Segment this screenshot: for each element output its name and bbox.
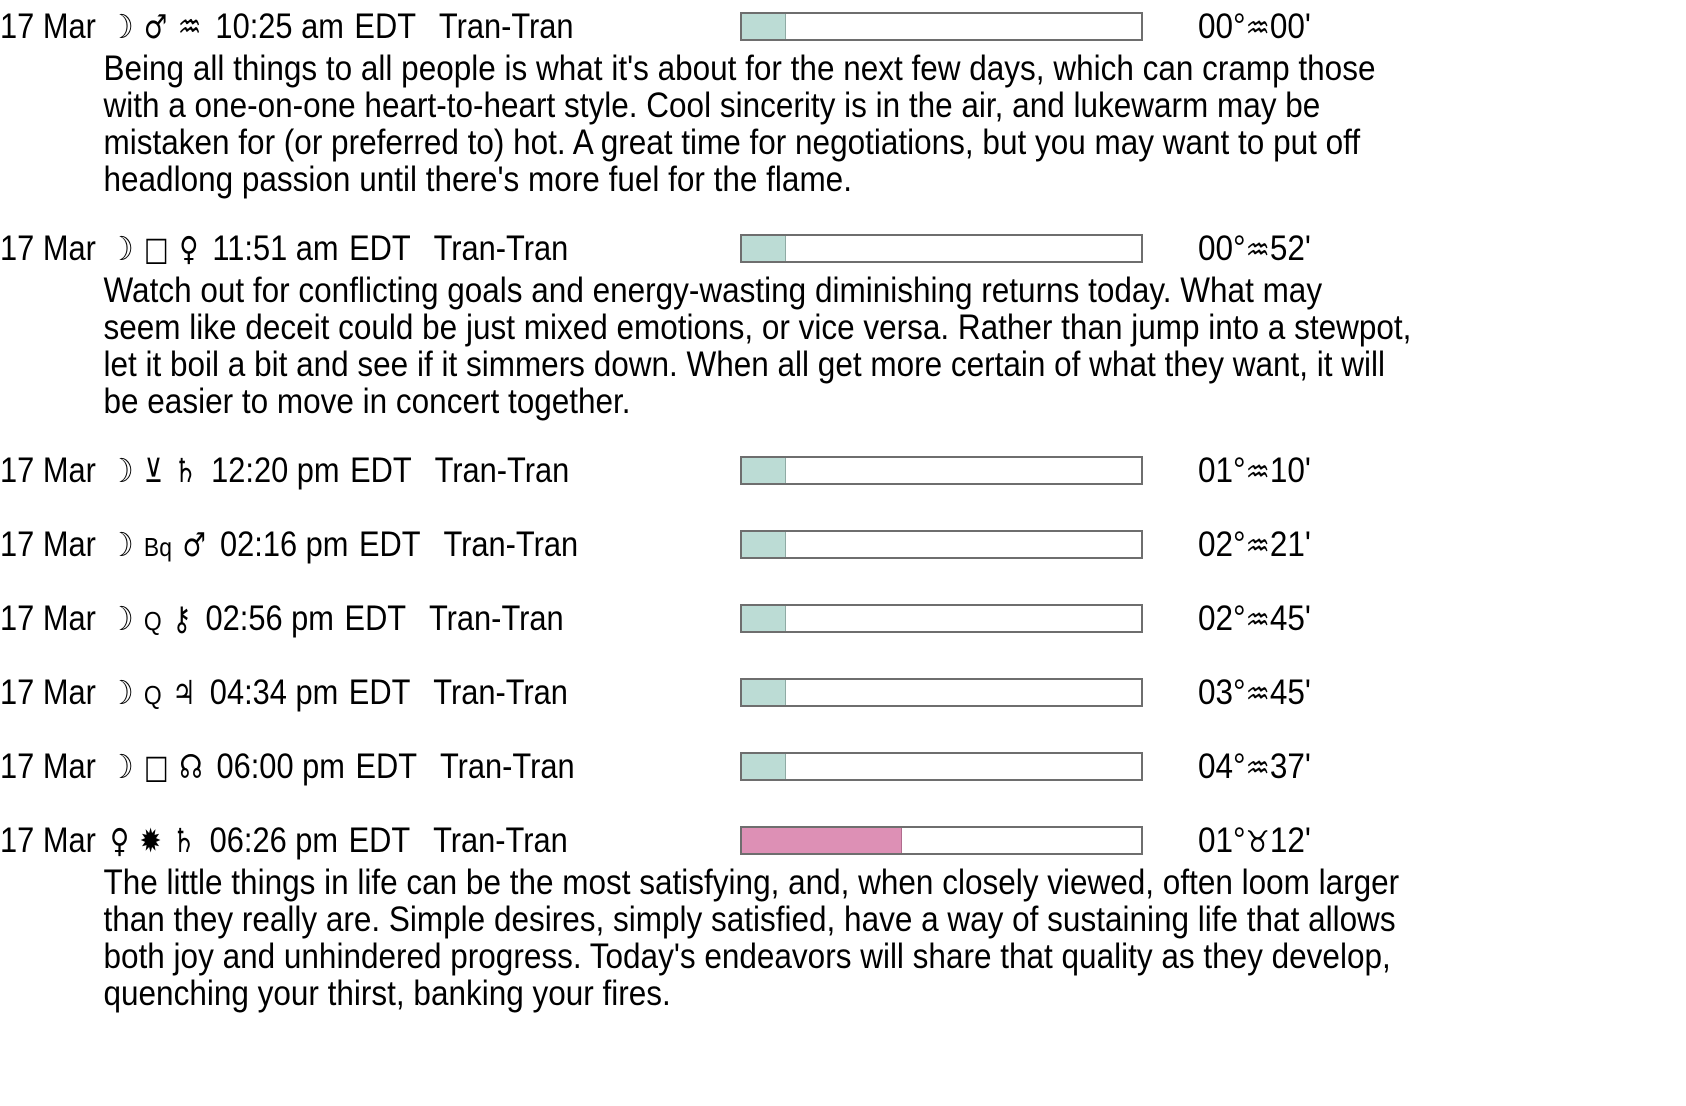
transit-progress-bar xyxy=(740,12,1143,41)
row-spacer xyxy=(0,1012,1686,1040)
position-degree: 00° xyxy=(1198,7,1246,46)
transit-position: 00°♒52' xyxy=(1198,226,1311,272)
transit-position: 01°♉12' xyxy=(1198,818,1311,864)
transit-description: The little things in life can be the mos… xyxy=(0,864,1287,1012)
zodiac-sign-icon: ♒ xyxy=(1246,11,1270,46)
transit-description-line: quenching your thirst, banking your fire… xyxy=(104,975,1288,1012)
transit-header-row: 17 Mar☽⊻♄12:20 pmEDTTran-Tran01°♒10' xyxy=(0,448,1686,494)
transit-timezone: EDT xyxy=(350,451,412,490)
transit-chart-pair: Tran-Tran xyxy=(429,599,564,638)
transit-summary: 17 Mar♀✹♄06:26 pmEDTTran-Tran xyxy=(0,818,568,864)
transit-timezone: EDT xyxy=(349,673,411,712)
transit-description-line: Watch out for conflicting goals and ener… xyxy=(104,272,1288,309)
position-degree: 02° xyxy=(1198,525,1246,564)
transit-time: 06:00 pm xyxy=(216,747,344,786)
north-node-icon: ☊ xyxy=(179,747,202,786)
transit-progress-bar xyxy=(740,530,1143,559)
position-degree: 03° xyxy=(1198,673,1246,712)
moon-icon: ☽ xyxy=(110,747,133,786)
transit-time: 11:51 am xyxy=(212,229,338,268)
position-minute: 45' xyxy=(1270,673,1311,712)
transit-progress-bar xyxy=(740,604,1143,633)
chiron-icon: ⚷ xyxy=(172,599,191,638)
transit-chart-pair: Tran-Tran xyxy=(433,673,568,712)
biquintile-icon: Bq xyxy=(144,532,172,562)
saturn-icon: ♄ xyxy=(172,821,195,860)
transit-summary: 17 Mar☽□♀11:51 amEDTTran-Tran xyxy=(0,226,568,272)
transit-timezone: EDT xyxy=(354,7,416,46)
zodiac-sign-icon: ♒ xyxy=(1246,751,1270,786)
transit-progress-bar xyxy=(740,678,1143,707)
transit-summary: 17 Mar☽♂♒10:25 amEDTTran-Tran xyxy=(0,4,574,50)
transit-description-line: seem like deceit could be just mixed emo… xyxy=(104,309,1288,346)
position-minute: 45' xyxy=(1270,599,1311,638)
transit-chart-pair: Tran-Tran xyxy=(443,525,578,564)
zodiac-sign-icon: ♒ xyxy=(1246,233,1270,268)
transit-progress-fill xyxy=(742,14,786,39)
transit-summary: 17 Mar☽□☊06:00 pmEDTTran-Tran xyxy=(0,744,575,790)
transit-timezone: EDT xyxy=(349,821,411,860)
transit-progress-fill xyxy=(742,458,786,483)
row-spacer xyxy=(0,642,1686,670)
row-spacer xyxy=(0,716,1686,744)
transit-timezone: EDT xyxy=(345,599,407,638)
position-minute: 21' xyxy=(1270,525,1311,564)
moon-icon: ☽ xyxy=(110,229,133,268)
transit-timezone: EDT xyxy=(355,747,417,786)
jupiter-icon: ♃ xyxy=(172,673,195,712)
quintile-icon: Q xyxy=(144,680,162,710)
position-minute: 52' xyxy=(1270,229,1311,268)
position-minute: 00' xyxy=(1270,7,1311,46)
square-icon: □ xyxy=(144,229,169,268)
position-degree: 00° xyxy=(1198,229,1246,268)
transit-description-line: headlong passion until there's more fuel… xyxy=(104,161,1288,198)
transit-event[interactable]: 17 Mar☽Q⚷02:56 pmEDTTran-Tran02°♒45' xyxy=(0,596,1686,670)
transit-header-row: 17 Mar☽□☊06:00 pmEDTTran-Tran04°♒37' xyxy=(0,744,1686,790)
transit-time: 04:34 pm xyxy=(210,673,338,712)
square-icon: □ xyxy=(144,747,169,786)
transit-progress-fill xyxy=(742,236,786,261)
transit-progress-bar xyxy=(740,752,1143,781)
transit-header-row: 17 Mar☽Q⚷02:56 pmEDTTran-Tran02°♒45' xyxy=(0,596,1686,642)
row-spacer xyxy=(0,568,1686,596)
row-spacer xyxy=(0,494,1686,522)
transit-date: 17 Mar xyxy=(0,451,96,490)
row-spacer xyxy=(0,420,1686,448)
transit-time: 12:20 pm xyxy=(211,451,339,490)
sextile-icon: ✹ xyxy=(140,821,162,860)
transit-date: 17 Mar xyxy=(0,821,96,860)
moon-icon: ☽ xyxy=(110,525,133,564)
transit-position: 00°♒00' xyxy=(1198,4,1311,50)
transit-event[interactable]: 17 Mar♀✹♄06:26 pmEDTTran-Tran01°♉12'The … xyxy=(0,818,1686,1040)
quintile-icon: Q xyxy=(144,606,162,636)
transit-event[interactable]: 17 Mar☽□☊06:00 pmEDTTran-Tran04°♒37' xyxy=(0,744,1686,818)
transit-event[interactable]: 17 Mar☽♂♒10:25 amEDTTran-Tran00°♒00'Bein… xyxy=(0,4,1686,226)
transit-progress-fill xyxy=(742,828,902,853)
transit-header-row: 17 Mar☽Q♃04:34 pmEDTTran-Tran03°♒45' xyxy=(0,670,1686,716)
transit-progress-fill xyxy=(742,606,786,631)
transit-header-row: 17 Mar♀✹♄06:26 pmEDTTran-Tran01°♉12' xyxy=(0,818,1686,864)
transit-position: 04°♒37' xyxy=(1198,744,1311,790)
saturn-icon: ♄ xyxy=(174,451,197,490)
sesquiquadrate-icon: ⊻ xyxy=(144,451,163,490)
transit-description: Being all things to all people is what i… xyxy=(0,50,1287,198)
transit-description-line: Being all things to all people is what i… xyxy=(104,50,1288,87)
aquarius-icon: ♒ xyxy=(178,7,201,46)
transit-progress-fill xyxy=(742,532,786,557)
transit-progress-fill xyxy=(742,680,786,705)
position-degree: 02° xyxy=(1198,599,1246,638)
transit-description-line: with a one-on-one heart-to-heart style. … xyxy=(104,87,1288,124)
transit-time: 10:25 am xyxy=(215,7,343,46)
transit-date: 17 Mar xyxy=(0,747,96,786)
transit-description-line: mistaken for (or preferred to) hot. A gr… xyxy=(104,124,1288,161)
transit-position: 02°♒45' xyxy=(1198,596,1311,642)
mars-icon: ♂ xyxy=(182,525,205,564)
transit-header-row: 17 Mar☽Bq♂02:16 pmEDTTran-Tran02°♒21' xyxy=(0,522,1686,568)
transit-date: 17 Mar xyxy=(0,7,96,46)
transit-description-line: than they really are. Simple desires, si… xyxy=(104,901,1288,938)
transit-position: 03°♒45' xyxy=(1198,670,1311,716)
transit-progress-bar xyxy=(740,456,1143,485)
zodiac-sign-icon: ♒ xyxy=(1246,455,1270,490)
position-degree: 01° xyxy=(1198,821,1246,860)
transit-progress-bar xyxy=(740,826,1143,855)
transit-summary: 17 Mar☽Bq♂02:16 pmEDTTran-Tran xyxy=(0,522,578,568)
transit-chart-pair: Tran-Tran xyxy=(439,7,574,46)
transit-description-line: let it boil a bit and see if it simmers … xyxy=(104,346,1288,383)
transit-description-line: The little things in life can be the mos… xyxy=(104,864,1288,901)
transit-description-line: both joy and unhindered progress. Today'… xyxy=(104,938,1288,975)
transit-chart-pair: Tran-Tran xyxy=(440,747,575,786)
transit-chart-pair: Tran-Tran xyxy=(435,451,570,490)
moon-icon: ☽ xyxy=(110,599,133,638)
position-degree: 04° xyxy=(1198,747,1246,786)
transit-header-row: 17 Mar☽♂♒10:25 amEDTTran-Tran00°♒00' xyxy=(0,4,1686,50)
venus-icon: ♀ xyxy=(179,229,198,268)
venus-icon: ♀ xyxy=(110,821,129,860)
transit-summary: 17 Mar☽Q⚷02:56 pmEDTTran-Tran xyxy=(0,596,564,642)
transit-progress-bar xyxy=(740,234,1143,263)
row-spacer xyxy=(0,790,1686,818)
conjunction-icon: ♂ xyxy=(144,7,167,46)
zodiac-sign-icon: ♉ xyxy=(1246,825,1270,860)
transit-description-line: be easier to move in concert together. xyxy=(104,383,1288,420)
transit-event[interactable]: 17 Mar☽Q♃04:34 pmEDTTran-Tran03°♒45' xyxy=(0,670,1686,744)
position-minute: 12' xyxy=(1270,821,1311,860)
transit-date: 17 Mar xyxy=(0,599,96,638)
moon-icon: ☽ xyxy=(110,451,133,490)
transit-time: 02:56 pm xyxy=(206,599,334,638)
transit-header-row: 17 Mar☽□♀11:51 amEDTTran-Tran00°♒52' xyxy=(0,226,1686,272)
transit-chart-pair: Tran-Tran xyxy=(434,229,569,268)
transit-description: Watch out for conflicting goals and ener… xyxy=(0,272,1287,420)
transit-date: 17 Mar xyxy=(0,229,96,268)
transit-progress-fill xyxy=(742,754,786,779)
transit-time: 06:26 pm xyxy=(210,821,338,860)
position-minute: 10' xyxy=(1270,451,1311,490)
moon-icon: ☽ xyxy=(110,673,133,712)
transit-date: 17 Mar xyxy=(0,673,96,712)
transit-date: 17 Mar xyxy=(0,525,96,564)
transit-position: 01°♒10' xyxy=(1198,448,1311,494)
transit-timezone: EDT xyxy=(359,525,421,564)
transit-time: 02:16 pm xyxy=(220,525,348,564)
row-spacer xyxy=(0,198,1686,226)
transit-summary: 17 Mar☽Q♃04:34 pmEDTTran-Tran xyxy=(0,670,568,716)
position-degree: 01° xyxy=(1198,451,1246,490)
zodiac-sign-icon: ♒ xyxy=(1246,529,1270,564)
transit-timezone: EDT xyxy=(349,229,411,268)
moon-icon: ☽ xyxy=(110,7,133,46)
transit-list: 17 Mar☽♂♒10:25 amEDTTran-Tran00°♒00'Bein… xyxy=(0,0,1686,1106)
transit-event[interactable]: 17 Mar☽⊻♄12:20 pmEDTTran-Tran01°♒10' xyxy=(0,448,1686,522)
transit-event[interactable]: 17 Mar☽Bq♂02:16 pmEDTTran-Tran02°♒21' xyxy=(0,522,1686,596)
position-minute: 37' xyxy=(1270,747,1311,786)
transit-chart-pair: Tran-Tran xyxy=(433,821,568,860)
zodiac-sign-icon: ♒ xyxy=(1246,603,1270,638)
transit-position: 02°♒21' xyxy=(1198,522,1311,568)
transit-summary: 17 Mar☽⊻♄12:20 pmEDTTran-Tran xyxy=(0,448,569,494)
zodiac-sign-icon: ♒ xyxy=(1246,677,1270,712)
transit-event[interactable]: 17 Mar☽□♀11:51 amEDTTran-Tran00°♒52'Watc… xyxy=(0,226,1686,448)
